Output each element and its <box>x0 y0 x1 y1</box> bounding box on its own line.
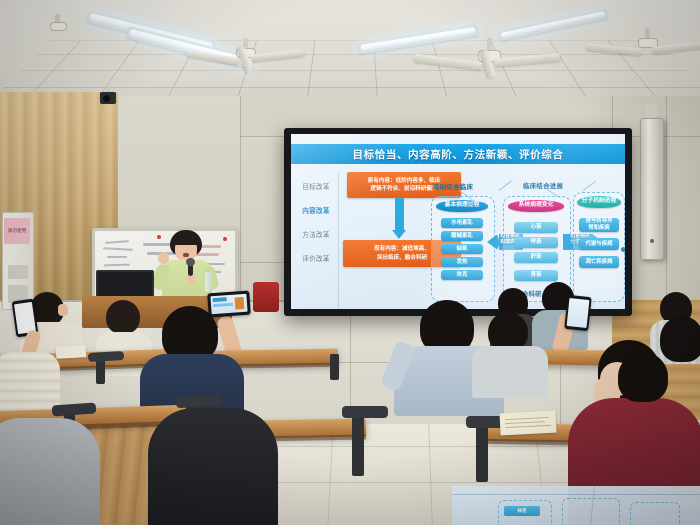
column-1-item-5: 休克 <box>441 270 483 280</box>
column-2-item-3: 肝衰 <box>514 252 558 263</box>
sidebar-item-method[interactable]: 方法改革 <box>295 222 337 246</box>
column-1-header: 基本病理过程 <box>436 200 488 212</box>
sidebar-item-content[interactable]: 内容改革 <box>295 198 337 222</box>
caption-basic-clinical: 基础结合临床 <box>433 182 473 191</box>
slide-sidebar: 目标改革 内容改革 方法改革 评价改革 <box>295 174 337 270</box>
phone-recording-device[interactable] <box>207 291 251 318</box>
slide-title-text: 目标恰当、内容高阶、方法新颖、评价综合 <box>353 147 564 162</box>
column-1-item-2: 酸碱紊乱 <box>441 231 483 241</box>
sidebar-item-goal[interactable]: 目标改革 <box>295 174 337 198</box>
attendee-head-far-right <box>660 316 700 362</box>
camera-lens-icon <box>103 95 110 102</box>
slide-title-bar: 目标恰当、内容高阶、方法新颖、评价综合 <box>291 144 625 164</box>
presenter-hair-front <box>172 234 200 245</box>
column-1-item-4: 发热 <box>441 257 483 267</box>
presenter-mouth <box>183 253 189 257</box>
sidebar-divider <box>338 172 339 309</box>
presenter-raised-hand <box>158 252 169 264</box>
slide-marker-dot <box>621 247 625 252</box>
screen-reflection-panel: 休克 <box>452 486 700 525</box>
microphone-head-icon <box>186 258 195 266</box>
column-2-item-1: 心衰 <box>514 222 558 233</box>
notebook <box>56 345 87 359</box>
presentation-slide[interactable]: 目标恰当、内容高阶、方法新颖、评价综合 目标改革 内容改革 方法改革 评价改革 … <box>291 134 625 309</box>
column-3-item-1: 信号转导异 常和疾病 <box>579 218 619 232</box>
sidebar-item-evaluation[interactable]: 评价改革 <box>295 246 337 270</box>
column-1-item-1: 水电紊乱 <box>441 218 483 228</box>
attendee-head-right <box>618 352 668 402</box>
caption-clinical-progress: 临床结合进展 <box>523 181 563 190</box>
phone-device-right[interactable] <box>564 295 591 331</box>
column-2-header: 系统病理变化 <box>508 200 564 212</box>
column-2-item-2: 呼衰 <box>514 237 558 248</box>
transition-arrow-stem <box>395 198 404 232</box>
red-chair <box>253 282 279 312</box>
column-1-item-3: 缺氧 <box>441 244 483 254</box>
speaker-bracket <box>645 104 657 118</box>
stack-of-papers <box>499 411 556 436</box>
pink-sign-text: 请勿使用 <box>5 228 29 234</box>
fan-hub-left <box>50 22 67 31</box>
column-3-item-2: 代谢与疾病 <box>579 238 619 250</box>
column-3-header: 分子机制进程 <box>577 196 621 208</box>
wall-speaker <box>640 118 664 260</box>
transition-arrow-head <box>392 230 406 239</box>
column-3-item-3: 凋亡和疾病 <box>579 256 619 268</box>
column-2-item-4: 肾衰 <box>514 270 558 281</box>
water-bottle <box>205 272 212 292</box>
lecture-hall-photo: 请勿使用 目标恰当、内容高阶、方法新颖、评价综合 目标改革 内容改革 方法改革 … <box>0 0 700 525</box>
reflected-chip: 休克 <box>504 506 540 516</box>
